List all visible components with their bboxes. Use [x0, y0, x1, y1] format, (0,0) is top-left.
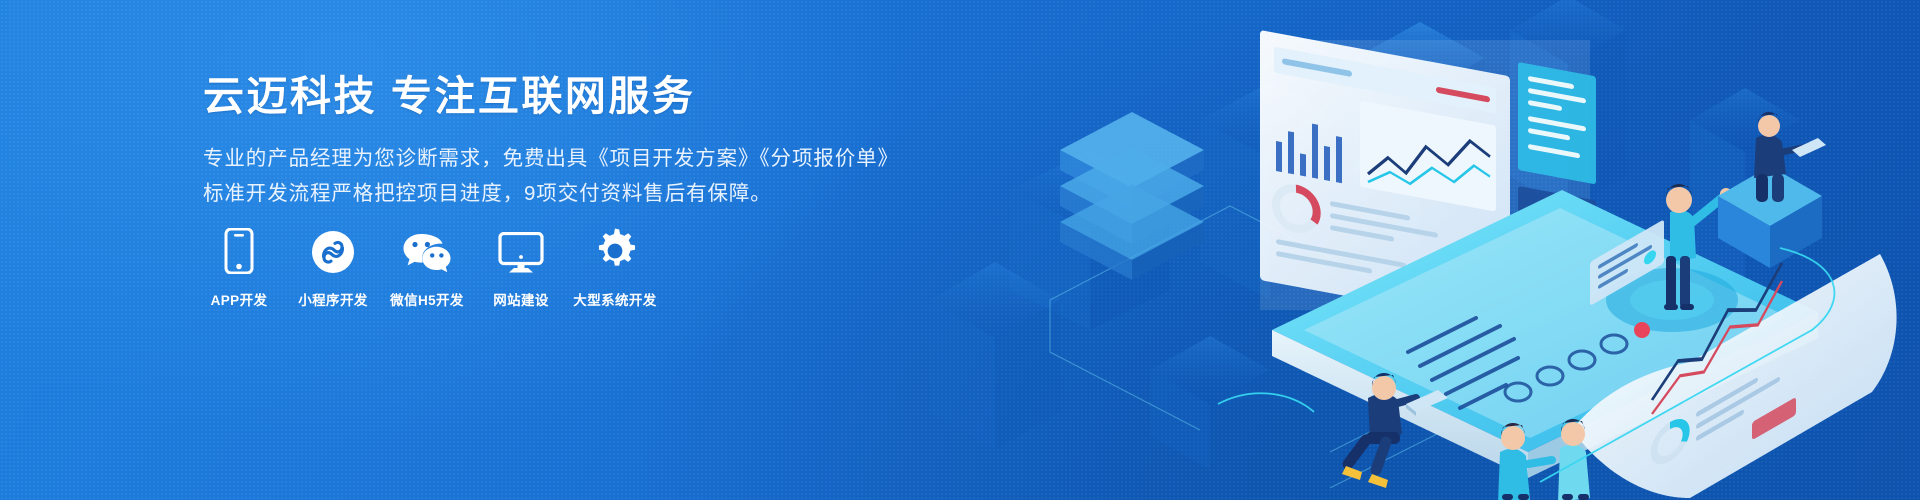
banner-copy: 云迈科技 专注互联网服务 专业的产品经理为您诊断需求，免费出具《项目开发方案》《…	[203, 72, 903, 211]
service-label-website: 网站建设	[493, 289, 549, 309]
service-item-app[interactable]: APP开发	[203, 228, 275, 309]
subtitle-line-2: 标准开发流程严格把控项目进度，9项交付资料售后有保障。	[203, 177, 903, 211]
service-label-mini-program: 小程序开发	[298, 289, 368, 309]
banner-subtitle: 专业的产品经理为您诊断需求，免费出具《项目开发方案》《分项报价单》 标准开发流程…	[203, 142, 903, 211]
hero-banner: 云迈科技 专注互联网服务 专业的产品经理为您诊断需求，免费出具《项目开发方案》《…	[0, 0, 1920, 500]
isometric-data-dashboard-illustration	[900, 0, 1920, 500]
mobile-phone-icon	[224, 228, 254, 274]
service-item-large-system[interactable]: 大型系统开发	[579, 228, 651, 309]
service-icon-list: APP开发 小程序开发	[203, 228, 651, 309]
gear-icon	[592, 228, 638, 274]
subtitle-line-1: 专业的产品经理为您诊断需求，免费出具《项目开发方案》《分项报价单》	[203, 142, 903, 176]
service-label-wechat-h5: 微信H5开发	[390, 289, 464, 309]
service-label-large-system: 大型系统开发	[573, 289, 656, 309]
service-item-website[interactable]: 网站建设	[485, 228, 557, 309]
service-item-wechat-h5[interactable]: 微信H5开发	[391, 228, 463, 309]
wechat-icon	[402, 228, 452, 274]
service-label-app: APP开发	[211, 289, 268, 309]
mini-program-icon	[311, 228, 355, 274]
monitor-icon	[498, 228, 544, 274]
service-item-mini-program[interactable]: 小程序开发	[297, 228, 369, 309]
page-title: 云迈科技 专注互联网服务	[203, 72, 903, 121]
